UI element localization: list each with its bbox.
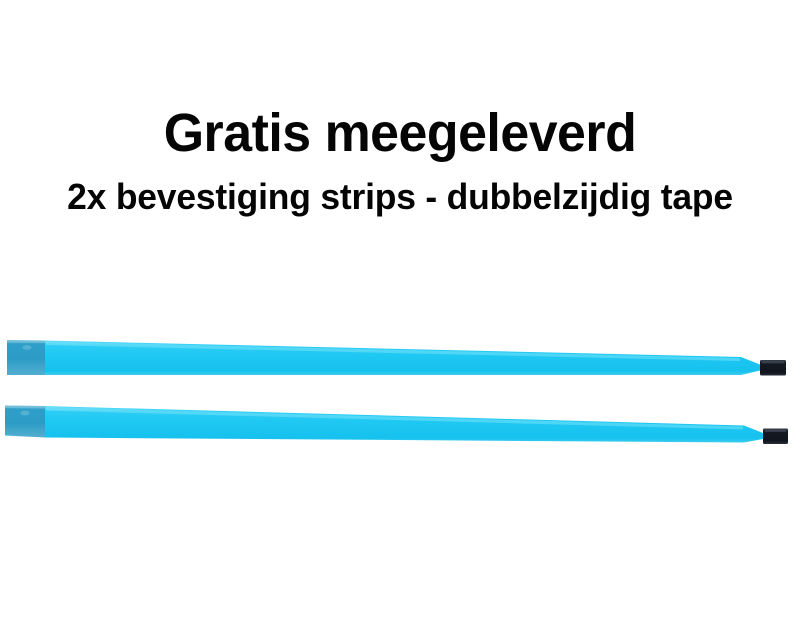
- strip-bottom-adhesive-tab-bubble: [21, 411, 30, 416]
- strip-bottom-graphic: [0, 384, 800, 448]
- strip-top-graphic: [0, 320, 800, 384]
- adhesive-strip-top: [0, 320, 800, 384]
- strip-bottom-adhesive-tab: [5, 406, 45, 438]
- strip-bottom-pull-tab-highlight: [765, 430, 787, 432]
- strip-top-pull-tab-highlight: [762, 361, 785, 363]
- promo-image-canvas: Gratis meegeleverd 2x bevestiging strips…: [0, 0, 800, 619]
- strip-top-adhesive-tab-bubble: [23, 345, 32, 350]
- adhesive-strip-bottom: [0, 384, 800, 448]
- strip-top-adhesive-tab-highlight: [7, 340, 45, 343]
- strip-bottom-adhesive-tab-highlight: [5, 406, 45, 409]
- adhesive-strips-illustration: [0, 0, 800, 619]
